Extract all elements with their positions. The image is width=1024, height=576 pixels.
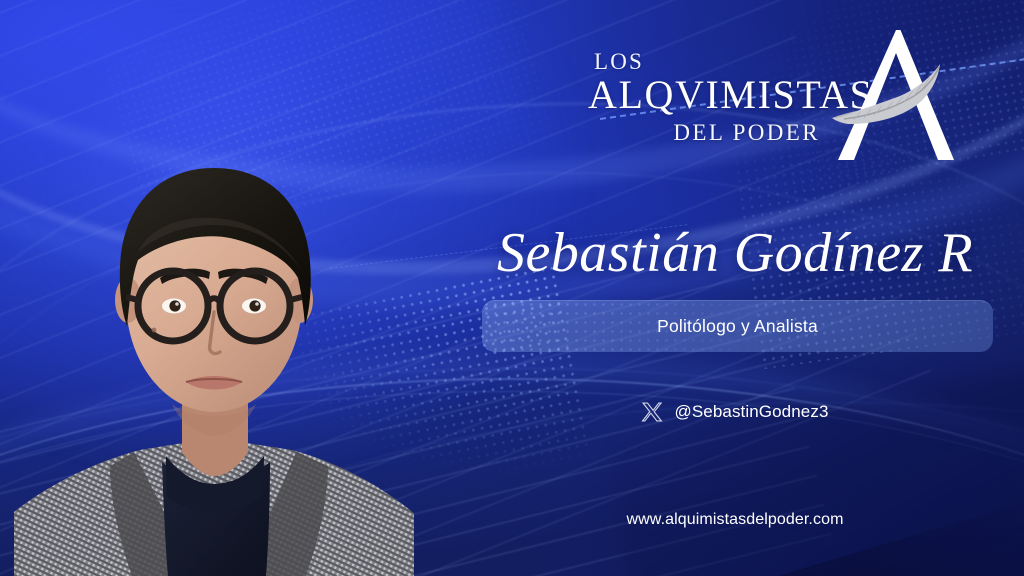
social-handle-text[interactable]: @SebastinGodnez3 [674, 402, 828, 422]
brand-a-feather-mark [826, 20, 966, 170]
brand-wordmark: LOS ALQVIMISTAS DEL PODER [588, 50, 824, 144]
brand-line-main: ALQVIMISTAS [588, 73, 824, 118]
role-label: Politólogo y Analista [657, 316, 818, 337]
letter-a-icon [838, 30, 954, 160]
brand-line-los: LOS [594, 50, 824, 73]
brand-line-del-poder: DEL PODER [588, 121, 824, 144]
role-banner: Politólogo y Analista [482, 300, 993, 352]
person-name: Sebastián Godínez R [470, 224, 1000, 283]
brand-logo: LOS ALQVIMISTAS DEL PODER [588, 28, 988, 173]
website-url[interactable]: www.alquimistasdelpoder.com [470, 511, 1000, 529]
broadcast-lower-third-graphic: LOS ALQVIMISTAS DEL PODER [0, 0, 1024, 576]
social-handle-row[interactable]: @SebastinGodnez3 [470, 401, 1000, 423]
x-twitter-icon[interactable] [641, 401, 663, 423]
